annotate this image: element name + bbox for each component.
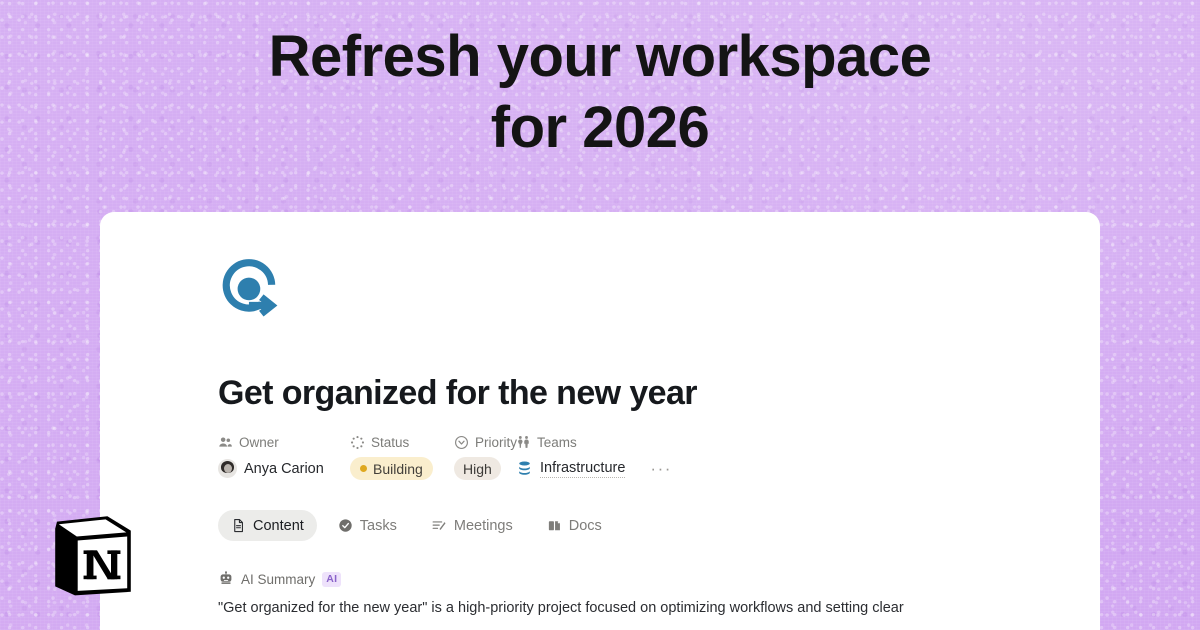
dotted-circle-icon [350, 435, 365, 450]
status-dot-icon [360, 465, 367, 472]
avatar [218, 459, 237, 478]
property-value-owner[interactable]: Anya Carion [218, 459, 350, 478]
property-value-priority[interactable]: High [454, 457, 516, 480]
status-badge[interactable]: Building [350, 457, 433, 480]
tab-label: Content [253, 518, 304, 534]
teams-icon [516, 435, 531, 450]
property-label-text: Teams [537, 435, 577, 450]
headline-line-1: Refresh your workspace [0, 22, 1200, 93]
ai-badge: AI [322, 572, 341, 587]
property-value-status[interactable]: Building [350, 457, 454, 480]
docs-icon [547, 518, 562, 533]
robot-icon [218, 571, 234, 587]
tab-label: Meetings [454, 518, 513, 534]
tab-label: Docs [569, 518, 602, 534]
property-overflow-button[interactable]: ··· [650, 460, 671, 477]
property-label-text: Priority [475, 435, 517, 450]
tab-content[interactable]: Content [218, 510, 317, 541]
document-icon [231, 518, 246, 533]
target-arrow-icon [218, 258, 284, 324]
property-label-text: Owner [239, 435, 279, 450]
ai-summary-header: AI Summary AI [218, 571, 1100, 587]
page-title: Get organized for the new year [218, 374, 1100, 413]
list-pencil-icon [431, 518, 447, 533]
ai-summary-label: AI Summary [241, 572, 315, 587]
status-text: Building [373, 462, 423, 476]
tab-label: Tasks [360, 518, 397, 534]
property-label-teams: Teams [516, 435, 1100, 450]
page-headline: Refresh your workspace for 2026 [0, 22, 1200, 164]
database-icon [516, 460, 533, 477]
tab-bar: Content Tasks Meetings [218, 510, 1100, 541]
owner-name: Anya Carion [244, 461, 324, 477]
priority-badge[interactable]: High [454, 457, 501, 480]
preview-card: Get organized for the new year Owner [100, 212, 1100, 630]
property-grid: Owner Status Priority [218, 435, 1100, 480]
property-value-teams[interactable]: Infrastructure ··· [516, 460, 1100, 478]
headline-line-2: for 2026 [0, 93, 1200, 164]
people-icon [218, 435, 233, 450]
priority-circle-icon [454, 435, 469, 450]
team-name[interactable]: Infrastructure [540, 460, 625, 478]
tab-tasks[interactable]: Tasks [325, 510, 410, 541]
notion-cube-icon [48, 509, 138, 599]
property-label-text: Status [371, 435, 409, 450]
check-circle-icon [338, 518, 353, 533]
property-label-status: Status [350, 435, 454, 450]
ai-summary-body: "Get organized for the new year" is a hi… [218, 598, 958, 620]
tab-meetings[interactable]: Meetings [418, 510, 526, 541]
property-label-priority: Priority [454, 435, 516, 450]
property-label-owner: Owner [218, 435, 350, 450]
tab-docs[interactable]: Docs [534, 510, 615, 541]
